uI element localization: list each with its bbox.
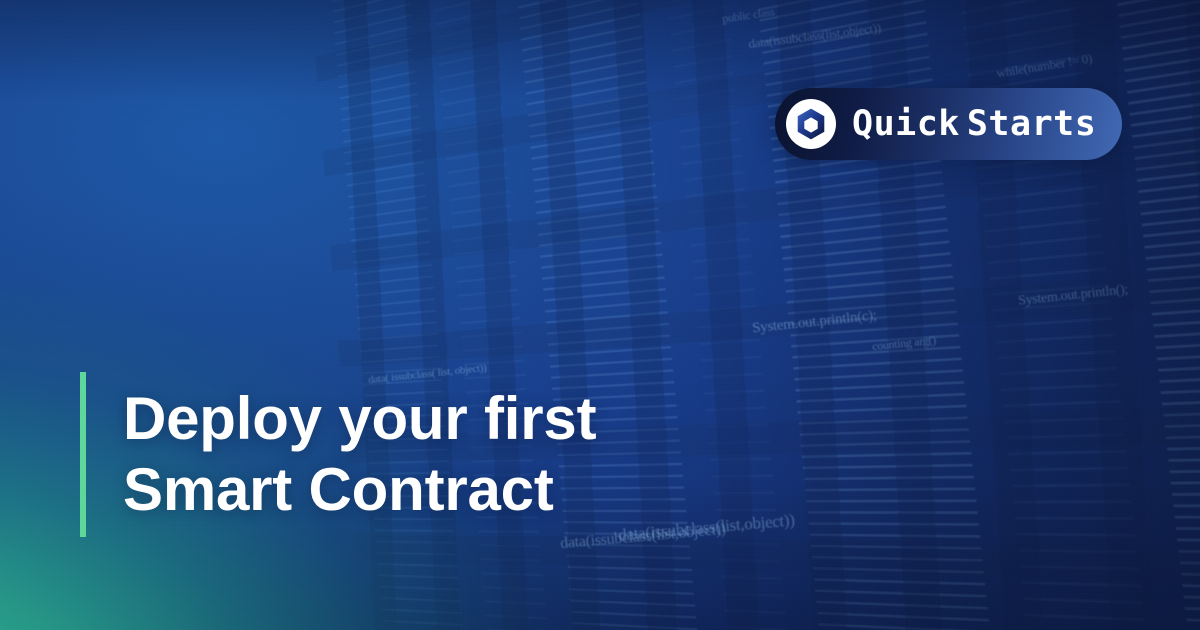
headline-block: Deploy your first Smart Contract [80,372,596,537]
badge-label: QuickStarts [852,107,1096,142]
badge-label-starts: Starts [967,104,1096,144]
code-snippet: counting arg() [871,333,936,355]
badge-label-quick: Quick [852,104,960,144]
quickstarts-banner: data(issubclass(list,object)) public cla… [0,0,1200,630]
code-snippet: while(number != 0) [995,51,1093,82]
code-snippet: data(issubclass(list,object)) [748,20,882,52]
chainlink-logo-circle [786,99,836,149]
chainlink-hexagon-icon [794,107,828,141]
page-title-line-2: Smart Contract [123,455,596,526]
code-snippet: data(issubclass(list,object)) [617,510,795,545]
page-title: Deploy your first Smart Contract [123,384,596,526]
code-snippet: System.out.println(c); [751,308,877,338]
page-title-line-1: Deploy your first [123,384,596,455]
quickstarts-badge[interactable]: QuickStarts [775,88,1122,160]
green-accent-bar [80,372,86,537]
code-snippet: public class [721,4,775,26]
code-snippet: System.out.println(); [1017,282,1128,309]
code-column [648,0,805,630]
